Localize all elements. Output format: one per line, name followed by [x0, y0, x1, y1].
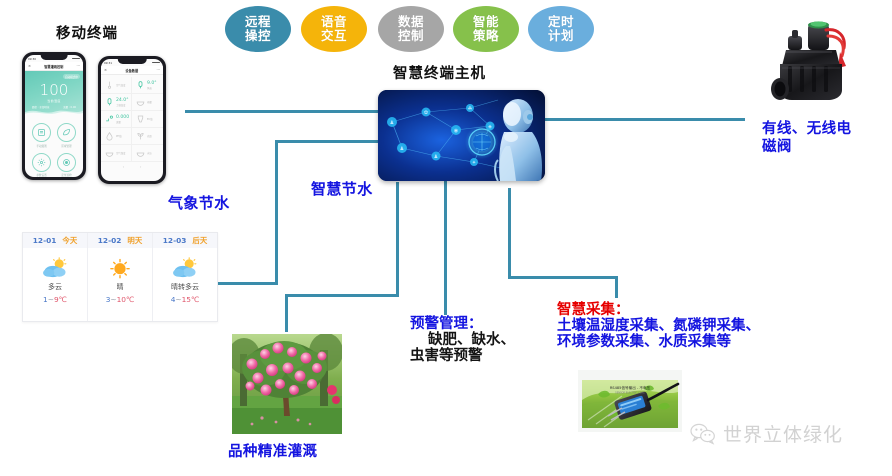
beaker-icon [136, 114, 145, 124]
pill-remote-control[interactable]: 远程 操控 [225, 6, 291, 52]
pill-label-line1: 语音 [321, 15, 347, 29]
reading-unit: 空气温度 [116, 83, 126, 87]
list-icon [32, 123, 51, 142]
connector-collect-v [508, 188, 511, 276]
flower-variety-photo [232, 334, 342, 434]
reading-unit: 水压 [147, 151, 152, 155]
phone2-reading-grid: 空气温度 9.0° 风速 24.0° 土壤温度 [101, 75, 163, 162]
phone2-status-time: 09:31 [104, 61, 112, 65]
svg-text:✦: ✦ [472, 160, 476, 166]
connector-flower-v [285, 294, 288, 332]
plant-icon [136, 131, 145, 141]
svg-text:✿: ✿ [424, 110, 428, 116]
partly-cloudy-icon [171, 257, 199, 279]
alert-management-block: 预警管理： 缺肥、缺水、 虫害等预警 [410, 316, 515, 364]
reading-unit: 雨量 [147, 100, 152, 104]
phone1-app-title: 智慧灌溉控制 [44, 64, 63, 69]
phone1-tile-label: 参数设置 [36, 173, 46, 177]
pill-label-line2: 操控 [245, 29, 271, 43]
wechat-icon [690, 423, 716, 445]
more-icon[interactable]: ··· [77, 64, 80, 68]
sensor-device-graphic: RS485信号输出 - 不电压 SENSOR ELECTRIC CORE [578, 370, 682, 432]
phone1-tile-location[interactable]: 定位巡检 [57, 153, 76, 177]
smart-collection-line2: 土壤温湿度采集、氮磷钾采集、 [557, 318, 760, 334]
flow-icon [105, 114, 114, 124]
smart-terminal-host-title: 智慧终端主机 [393, 62, 486, 83]
phone2-notch [118, 59, 147, 64]
weather-day-header: 12-02 明天 [88, 233, 152, 248]
connector-collect-v2 [615, 276, 618, 298]
weather-desc: 晴转多云 [153, 282, 217, 292]
phone1-mode-chip: 自动模式中 [63, 74, 80, 79]
bowl-icon [136, 97, 145, 107]
weather-day-0[interactable]: 12-01 今天 多云 1~9℃ [23, 233, 87, 321]
weather-dayname: 后天 [192, 235, 207, 246]
phone1-main-value-label: 当前湿度 [47, 99, 61, 103]
phone2-pager[interactable]: ‹ › [101, 162, 163, 169]
phone2-screen[interactable]: 09:31 × 设备数据 ··· 空气温度 [101, 59, 163, 181]
reading-unit: 光照 [147, 134, 152, 138]
phone2-reading-humidity[interactable]: 空气湿度 [101, 145, 132, 162]
svg-text:♟: ♟ [434, 154, 438, 160]
connector-smartwater-v [396, 182, 399, 297]
smart-collection-line3: 环境参数采集、水质采集等 [557, 334, 760, 350]
phone1-main-value: 100 [40, 83, 69, 98]
connector-weather-v [275, 140, 278, 285]
probe-icon [105, 97, 114, 107]
phone1-notch [41, 55, 68, 60]
phone2-reading-air-temp[interactable]: 空气温度 [101, 77, 132, 94]
solenoid-valve-image [762, 12, 874, 124]
phone2-reading-ec[interactable]: EC值 [132, 111, 163, 128]
sensor-icon [136, 80, 145, 90]
svg-text:☘: ☘ [468, 106, 473, 112]
watermark-text: 世界立体绿化 [723, 420, 843, 447]
reading-unit: PH值 [116, 134, 122, 138]
weather-date: 12-03 [163, 236, 187, 245]
weather-temp-unit: ℃ [126, 295, 134, 304]
partly-cloudy-icon [41, 257, 69, 279]
phone1-status-time: 09:30 [28, 57, 36, 61]
weather-dayname: 明天 [127, 235, 142, 246]
wave-decoration [25, 107, 83, 116]
signal-icon [152, 62, 160, 64]
weather-day-2[interactable]: 12-03 后天 晴转多云 4~15℃ [152, 233, 217, 321]
weather-desc: 多云 [23, 282, 87, 292]
bowl2-icon [105, 148, 114, 158]
weather-day-header: 12-03 后天 [153, 233, 217, 248]
phone2-reading-rain[interactable]: 雨量 [132, 94, 163, 111]
weather-temp-high: 15 [182, 295, 191, 304]
pill-label-line1: 远程 [245, 15, 271, 29]
phone2-app-topbar: × 设备数据 ··· [101, 66, 163, 75]
valve-label-line2: 磁阀 [762, 138, 851, 156]
pill-smart-strategy[interactable]: 智能 策略 [453, 6, 519, 52]
sensor-photo-caption: RS485信号输出 - 不电压 [610, 385, 651, 390]
valve-label: 有线、无线电 磁阀 [762, 120, 851, 156]
phone1-hero-panel: 自动模式中 100 当前湿度 面积 : 全部地块 流量 : 0.00 [25, 71, 83, 115]
signal-icon [72, 58, 80, 60]
weather-temp: 4~15℃ [153, 295, 217, 304]
smart-collection-title: 智慧采集： [557, 302, 760, 318]
phone1-tile-area-mgmt[interactable]: 区域管理 [57, 123, 76, 148]
reading-unit: EC值 [147, 117, 153, 121]
phone1-tile-settings[interactable]: 参数设置 [32, 153, 51, 177]
weather-temp-unit: ℃ [59, 295, 67, 304]
svg-text:♟: ♟ [400, 146, 404, 152]
phone1-tile-label: 定位巡检 [61, 173, 71, 177]
drop-icon [105, 131, 114, 141]
pill-label-line2: 策略 [473, 29, 499, 43]
weather-desc: 晴 [88, 282, 152, 292]
smart-collection-block: 智慧采集： 土壤温湿度采集、氮磷钾采集、 环境参数采集、水质采集等 [557, 302, 760, 350]
alert-management-title: 预警管理： [410, 316, 515, 332]
weather-temp-unit: ℃ [191, 295, 199, 304]
svg-text:♟: ♟ [390, 120, 394, 126]
smart-terminal-host-device[interactable]: ♟✿ ◉♟ ♟☘ ◈✦ [378, 90, 545, 181]
sensor-photo-subcaption: SENSOR ELECTRIC CORE [615, 392, 645, 395]
connector-phone-to-host [185, 110, 383, 113]
sunny-icon [106, 257, 134, 279]
phone2-reading-pressure[interactable]: 水压 [132, 145, 163, 162]
phone2-reading-flow[interactable]: 0.000 流量 [101, 111, 132, 128]
phone1-tile-grid: 手动灌溉 区域管理 [25, 115, 83, 177]
phone1-tile-label: 手动灌溉 [36, 144, 46, 148]
weather-date: 12-01 [33, 236, 57, 245]
weather-day-header: 12-01 今天 [23, 233, 87, 248]
svg-text:◉: ◉ [454, 128, 458, 134]
weather-dayname: 今天 [62, 235, 77, 246]
alert-management-line2: 缺肥、缺水、 [410, 332, 515, 348]
rose-bush-graphic [232, 334, 342, 434]
solenoid-valve-graphic [762, 12, 874, 124]
thermometer-icon [105, 80, 114, 90]
connector-alert-v [444, 180, 447, 315]
watermark: 世界立体绿化 [690, 420, 843, 447]
weather-date: 12-02 [98, 236, 122, 245]
gear-icon [32, 153, 51, 172]
host-ai-graphic: ♟✿ ◉♟ ♟☘ ◈✦ [378, 90, 545, 181]
phone2-reading-soil-temp[interactable]: 24.0° 土壤温度 [101, 94, 132, 111]
diagram-canvas: 远程 操控 语音 交互 数据 控制 智能 策略 定时 计划 移动终端 智慧终端主… [0, 0, 892, 476]
target-icon [57, 153, 76, 172]
pill-data-control[interactable]: 数据 控制 [378, 6, 444, 52]
phone1-tile-manual-irrigation[interactable]: 手动灌溉 [32, 123, 51, 148]
mobile-terminal-title: 移动终端 [56, 22, 118, 43]
alert-management-line3: 虫害等预警 [410, 348, 515, 364]
label-weather-water-saving: 气象节水 [168, 192, 230, 213]
sensor-device-photo: RS485信号输出 - 不电压 SENSOR ELECTRIC CORE [578, 370, 682, 432]
phone2-reading-wind-speed[interactable]: 9.0° 风速 [132, 77, 163, 94]
connector-host-to-valve [545, 118, 745, 121]
valve-label-line1: 有线、无线电 [762, 120, 851, 138]
label-precise-irrigation: 品种精准灌溉 [228, 440, 317, 461]
pill-label-line1: 智能 [473, 15, 499, 29]
connector-smartwater-h [285, 294, 399, 297]
pill-label-line2: 控制 [398, 29, 424, 43]
phone1-app-topbar: × 智慧灌溉控制 ··· [25, 62, 83, 71]
weather-temp-high: 10 [117, 295, 126, 304]
phone-device-2[interactable]: 09:31 × 设备数据 ··· 空气温度 [98, 56, 166, 184]
reading-unit: 流量 [116, 120, 129, 124]
pill-label-line2: 交互 [321, 29, 347, 43]
label-smart-water-saving: 智慧节水 [311, 178, 373, 199]
reading-unit: 风速 [147, 86, 157, 90]
close-icon[interactable]: × [104, 68, 107, 72]
pill-voice-interaction[interactable]: 语音 交互 [301, 6, 367, 52]
more-icon[interactable]: ··· [157, 68, 160, 72]
close-icon[interactable]: × [28, 64, 31, 68]
pill-label-line1: 数据 [398, 15, 424, 29]
bowl3-icon [136, 148, 145, 158]
weather-day-1[interactable]: 12-02 明天 晴 3~10℃ [87, 233, 152, 321]
weather-temp: 1~9℃ [23, 295, 87, 304]
pill-scheduled-plan[interactable]: 定时 计划 [528, 6, 594, 52]
phone1-tile-label: 区域管理 [61, 144, 71, 148]
phone1-screen[interactable]: 09:30 × 智慧灌溉控制 ··· 自动模式中 100 当前湿度 面积 : 全… [25, 55, 83, 177]
phone2-reading-light[interactable]: 光照 [132, 128, 163, 145]
weather-temp: 3~10℃ [88, 295, 152, 304]
phone-device-1[interactable]: 09:30 × 智慧灌溉控制 ··· 自动模式中 100 当前湿度 面积 : 全… [22, 52, 86, 180]
reading-unit: 空气湿度 [116, 151, 126, 155]
pager-next[interactable]: › [140, 165, 141, 169]
reading-unit: 土壤温度 [116, 103, 129, 107]
connector-collect-h [508, 276, 618, 279]
phone2-app-title: 设备数据 [125, 68, 138, 73]
pill-label-line1: 定时 [548, 15, 574, 29]
weather-forecast-card[interactable]: 12-01 今天 多云 1~9℃ 12-02 明天 [22, 232, 218, 322]
pill-label-line2: 计划 [548, 29, 574, 43]
pager-prev[interactable]: ‹ [123, 165, 124, 169]
phone2-reading-ph[interactable]: PH值 [101, 128, 132, 145]
leaf-icon [57, 123, 76, 142]
